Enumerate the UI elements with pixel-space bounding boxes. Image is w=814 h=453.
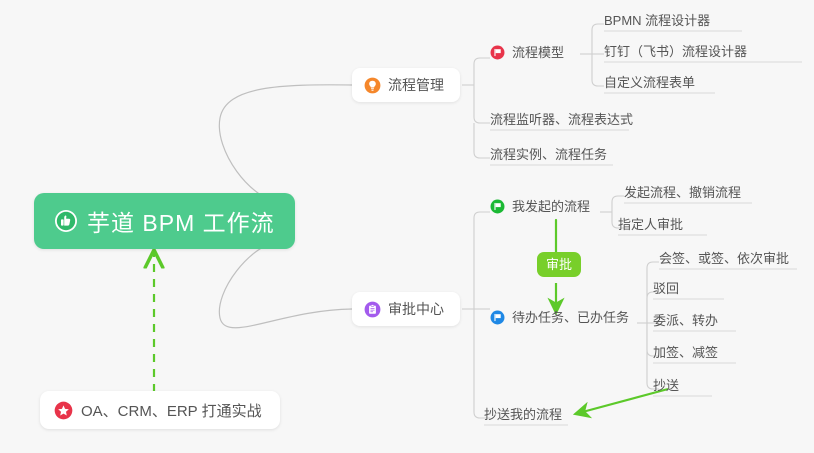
node-todo-done-tasks[interactable]: 待办任务、已办任务: [490, 309, 629, 330]
node-dingtalk-designer[interactable]: 钉钉（飞书）流程设计器: [604, 43, 747, 64]
node-process-listener[interactable]: 流程监听器、流程表达式: [490, 111, 633, 132]
branch-node-process-management[interactable]: 流程管理: [352, 68, 460, 102]
node-custom-form[interactable]: 自定义流程表单: [604, 74, 695, 95]
node-custom-form-label: 自定义流程表单: [604, 74, 695, 91]
node-process-instance-label: 流程实例、流程任务: [490, 146, 607, 163]
edge-pm-branch-1: [474, 58, 490, 85]
node-dingtalk-designer-label: 钉钉（飞书）流程设计器: [604, 43, 747, 60]
edge-root-to-approval-center: [219, 240, 352, 328]
node-start-cancel-process[interactable]: 发起流程、撤销流程: [624, 184, 741, 205]
node-process-instance[interactable]: 流程实例、流程任务: [490, 146, 607, 167]
node-reject[interactable]: 驳回: [653, 280, 679, 301]
node-cc[interactable]: 抄送: [653, 377, 679, 398]
node-delegate-transfer-label: 委派、转办: [653, 312, 718, 329]
root-node[interactable]: 芋道 BPM 工作流: [34, 193, 295, 249]
node-reject-label: 驳回: [653, 280, 679, 297]
approval-tag[interactable]: 审批: [537, 252, 581, 277]
node-cc-label: 抄送: [653, 377, 679, 394]
mindmap-canvas: 芋道 BPM 工作流 流程管理 流程模型 流程监听器、流程表达式 流程实例、流: [0, 0, 814, 453]
node-cc-my-process-label: 抄送我的流程: [484, 406, 562, 423]
node-process-model-label: 流程模型: [512, 44, 564, 61]
node-add-remove-sign[interactable]: 加签、减签: [653, 344, 718, 365]
node-countersign-label: 会签、或签、依次审批: [659, 250, 789, 267]
edge-model-branch-1: [592, 24, 604, 54]
node-bpmn-designer[interactable]: BPMN 流程设计器: [604, 12, 710, 33]
star-icon: [54, 401, 73, 420]
callout-label: OA、CRM、ERP 打通实战: [81, 400, 262, 421]
node-add-remove-sign-label: 加签、减签: [653, 344, 718, 361]
flag-icon: [490, 199, 505, 214]
edge-ac-branch-3: [474, 309, 490, 418]
branch-node-approval-center[interactable]: 审批中心: [352, 292, 460, 326]
node-cc-my-process[interactable]: 抄送我的流程: [484, 406, 562, 427]
lightbulb-icon: [364, 77, 381, 94]
edge-root-to-process-management: [219, 85, 352, 203]
branch-label-process-management: 流程管理: [388, 75, 444, 95]
node-assignee-approval[interactable]: 指定人审批: [618, 216, 683, 237]
node-delegate-transfer[interactable]: 委派、转办: [653, 312, 718, 333]
clipboard-icon: [364, 301, 381, 318]
node-countersign[interactable]: 会签、或签、依次审批: [659, 250, 789, 271]
callout-node-integration[interactable]: OA、CRM、ERP 打通实战: [40, 391, 280, 429]
flag-icon: [490, 45, 505, 60]
edge-model-branch-3: [592, 54, 604, 86]
branch-label-approval-center: 审批中心: [388, 299, 444, 319]
edge-pm-branch-3: [474, 123, 490, 158]
edge-mine-branch-1: [612, 196, 624, 212]
flag-icon: [490, 310, 505, 325]
approval-tag-label: 审批: [546, 257, 572, 272]
node-my-started-process[interactable]: 我发起的流程: [490, 198, 590, 219]
node-todo-done-tasks-label: 待办任务、已办任务: [512, 309, 629, 326]
edge-ac-branch-1: [474, 212, 490, 309]
thumbs-up-icon: [54, 209, 78, 233]
node-start-cancel-process-label: 发起流程、撤销流程: [624, 184, 741, 201]
root-label: 芋道 BPM 工作流: [87, 204, 275, 238]
node-assignee-approval-label: 指定人审批: [618, 216, 683, 233]
node-bpmn-designer-label: BPMN 流程设计器: [604, 12, 710, 29]
node-my-started-process-label: 我发起的流程: [512, 198, 590, 215]
node-process-listener-label: 流程监听器、流程表达式: [490, 111, 633, 128]
edge-pm-branch-2: [474, 85, 490, 123]
node-process-model[interactable]: 流程模型: [490, 44, 564, 65]
